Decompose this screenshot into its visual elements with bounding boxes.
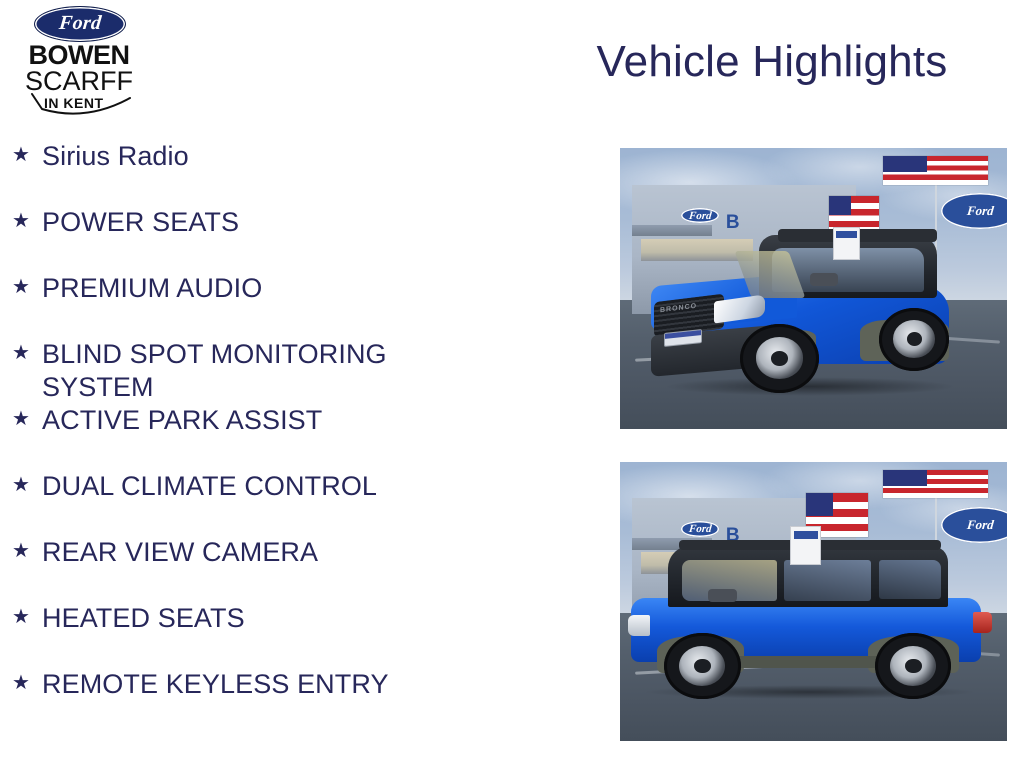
- star-bullet-icon: ★: [12, 668, 42, 698]
- vehicle-rocker-panel: [730, 656, 883, 668]
- window-price-sticker: [790, 526, 821, 565]
- star-bullet-icon: ★: [12, 470, 42, 500]
- list-item: ★ POWER SEATS: [0, 206, 560, 272]
- dealer-logo[interactable]: Ford BOWEN SCARFF IN KENT: [8, 4, 150, 122]
- list-item: ★ PREMIUM AUDIO: [0, 272, 560, 338]
- dealer-name-line2: SCARFF: [14, 68, 144, 95]
- wheel-rim: [679, 646, 725, 686]
- building-ford-sign-icon: Ford: [681, 208, 719, 224]
- star-bullet-icon: ★: [12, 602, 42, 632]
- building-ford-sign-text: Ford: [688, 523, 712, 535]
- wheel-rim: [890, 646, 936, 686]
- american-flag-icon: [883, 156, 987, 184]
- page-title: Vehicle Highlights: [520, 38, 1024, 86]
- list-item: ★ Sirius Radio: [0, 140, 560, 206]
- vehicle-side-mirror: [810, 273, 839, 286]
- list-item: ★ REMOTE KEYLESS ENTRY: [0, 668, 560, 734]
- dealer-name-line3: IN KENT: [44, 96, 104, 110]
- vehicle-side-mirror: [708, 589, 737, 602]
- american-flag-icon: [883, 470, 987, 498]
- vehicle-highlights-slide: Ford BOWEN SCARFF IN KENT Vehicle Highli…: [0, 0, 1024, 768]
- star-bullet-icon: ★: [12, 404, 42, 434]
- ford-oval-logo-icon: Ford: [34, 6, 126, 42]
- vehicle-photo-front-three-quarter[interactable]: Ford B Ford BRONCO: [620, 148, 1007, 429]
- highlight-label: ACTIVE PARK ASSIST: [42, 404, 472, 437]
- pylon-ford-sign-text: Ford: [966, 517, 994, 533]
- vehicle-front-wheel: [740, 324, 819, 393]
- wheel-rim: [756, 337, 804, 379]
- highlight-label: HEATED SEATS: [42, 602, 472, 635]
- highlight-label: POWER SEATS: [42, 206, 472, 239]
- highlight-label: REAR VIEW CAMERA: [42, 536, 472, 569]
- vehicle-body-front-three-quarter: BRONCO: [651, 232, 968, 389]
- star-bullet-icon: ★: [12, 206, 42, 236]
- building-ford-sign-text: Ford: [688, 210, 712, 222]
- dealer-name-line1: BOWEN: [14, 42, 144, 69]
- list-item: ★ REAR VIEW CAMERA: [0, 536, 560, 602]
- vehicle-rear-door-glass: [784, 560, 871, 601]
- ford-wordmark: Ford: [58, 13, 103, 35]
- star-bullet-icon: ★: [12, 272, 42, 302]
- star-bullet-icon: ★: [12, 536, 42, 566]
- vehicle-quarter-glass: [879, 560, 941, 599]
- highlight-label: REMOTE KEYLESS ENTRY: [42, 668, 472, 701]
- pylon-ford-sign-text: Ford: [966, 203, 994, 219]
- highlight-label: Sirius Radio: [42, 140, 472, 173]
- wheel-rim: [893, 320, 935, 358]
- vehicle-highlights-list: ★ Sirius Radio ★ POWER SEATS ★ PREMIUM A…: [0, 140, 560, 734]
- building-ford-sign-icon: Ford: [681, 521, 719, 536]
- vehicle-rear-wheel: [879, 308, 949, 371]
- vehicle-taillight: [973, 612, 991, 632]
- list-item: ★ DUAL CLIMATE CONTROL: [0, 470, 560, 536]
- vehicle-headlight: [628, 615, 650, 635]
- building-dealer-letter: B: [726, 212, 740, 234]
- list-item: ★ ACTIVE PARK ASSIST: [0, 404, 560, 470]
- highlight-label: BLIND SPOT MONITORING SYSTEM: [42, 338, 472, 404]
- star-bullet-icon: ★: [12, 338, 42, 368]
- list-item: ★ HEATED SEATS: [0, 602, 560, 668]
- star-bullet-icon: ★: [12, 140, 42, 170]
- window-price-sticker: [833, 227, 860, 261]
- pylon-ford-sign-icon: Ford: [941, 507, 1007, 543]
- vehicle-front-wheel: [664, 633, 740, 700]
- vehicle-photo-side-profile[interactable]: Ford B Ford: [620, 462, 1007, 741]
- vehicle-body-side-profile: [628, 546, 992, 691]
- list-item: ★ BLIND SPOT MONITORING SYSTEM: [0, 338, 560, 404]
- highlight-label: PREMIUM AUDIO: [42, 272, 472, 305]
- highlight-label: DUAL CLIMATE CONTROL: [42, 470, 472, 503]
